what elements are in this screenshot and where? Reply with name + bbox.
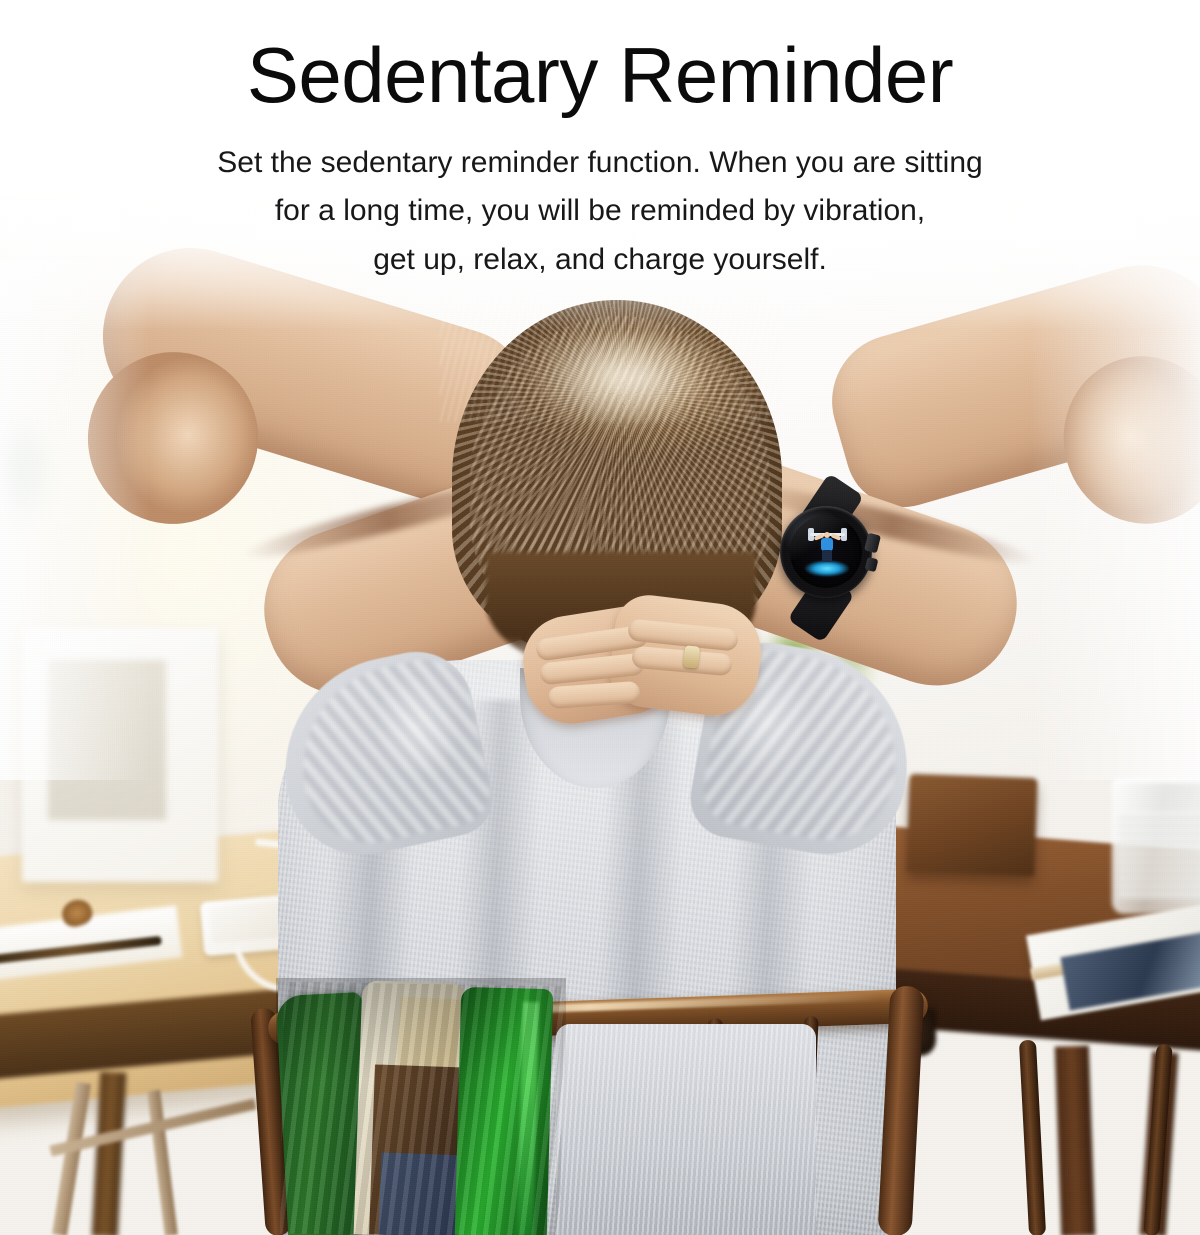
chair-leg [147, 1090, 178, 1235]
chair-leg [52, 1082, 91, 1235]
hair-wisps [440, 292, 780, 422]
watch-side-button[interactable] [865, 557, 879, 572]
background-chair-legs [28, 1082, 258, 1235]
hero-photo [0, 0, 1200, 1235]
flannel-shirt [276, 978, 628, 1235]
watch-crown-button[interactable] [864, 533, 881, 554]
sedentary-reminder-page: Sedentary Reminder Set the sedentary rem… [0, 0, 1200, 1235]
flannel-shadow [276, 978, 566, 1235]
watch-glass-reflection [790, 516, 862, 588]
finger-ring [683, 645, 700, 668]
smartwatch [766, 486, 884, 618]
